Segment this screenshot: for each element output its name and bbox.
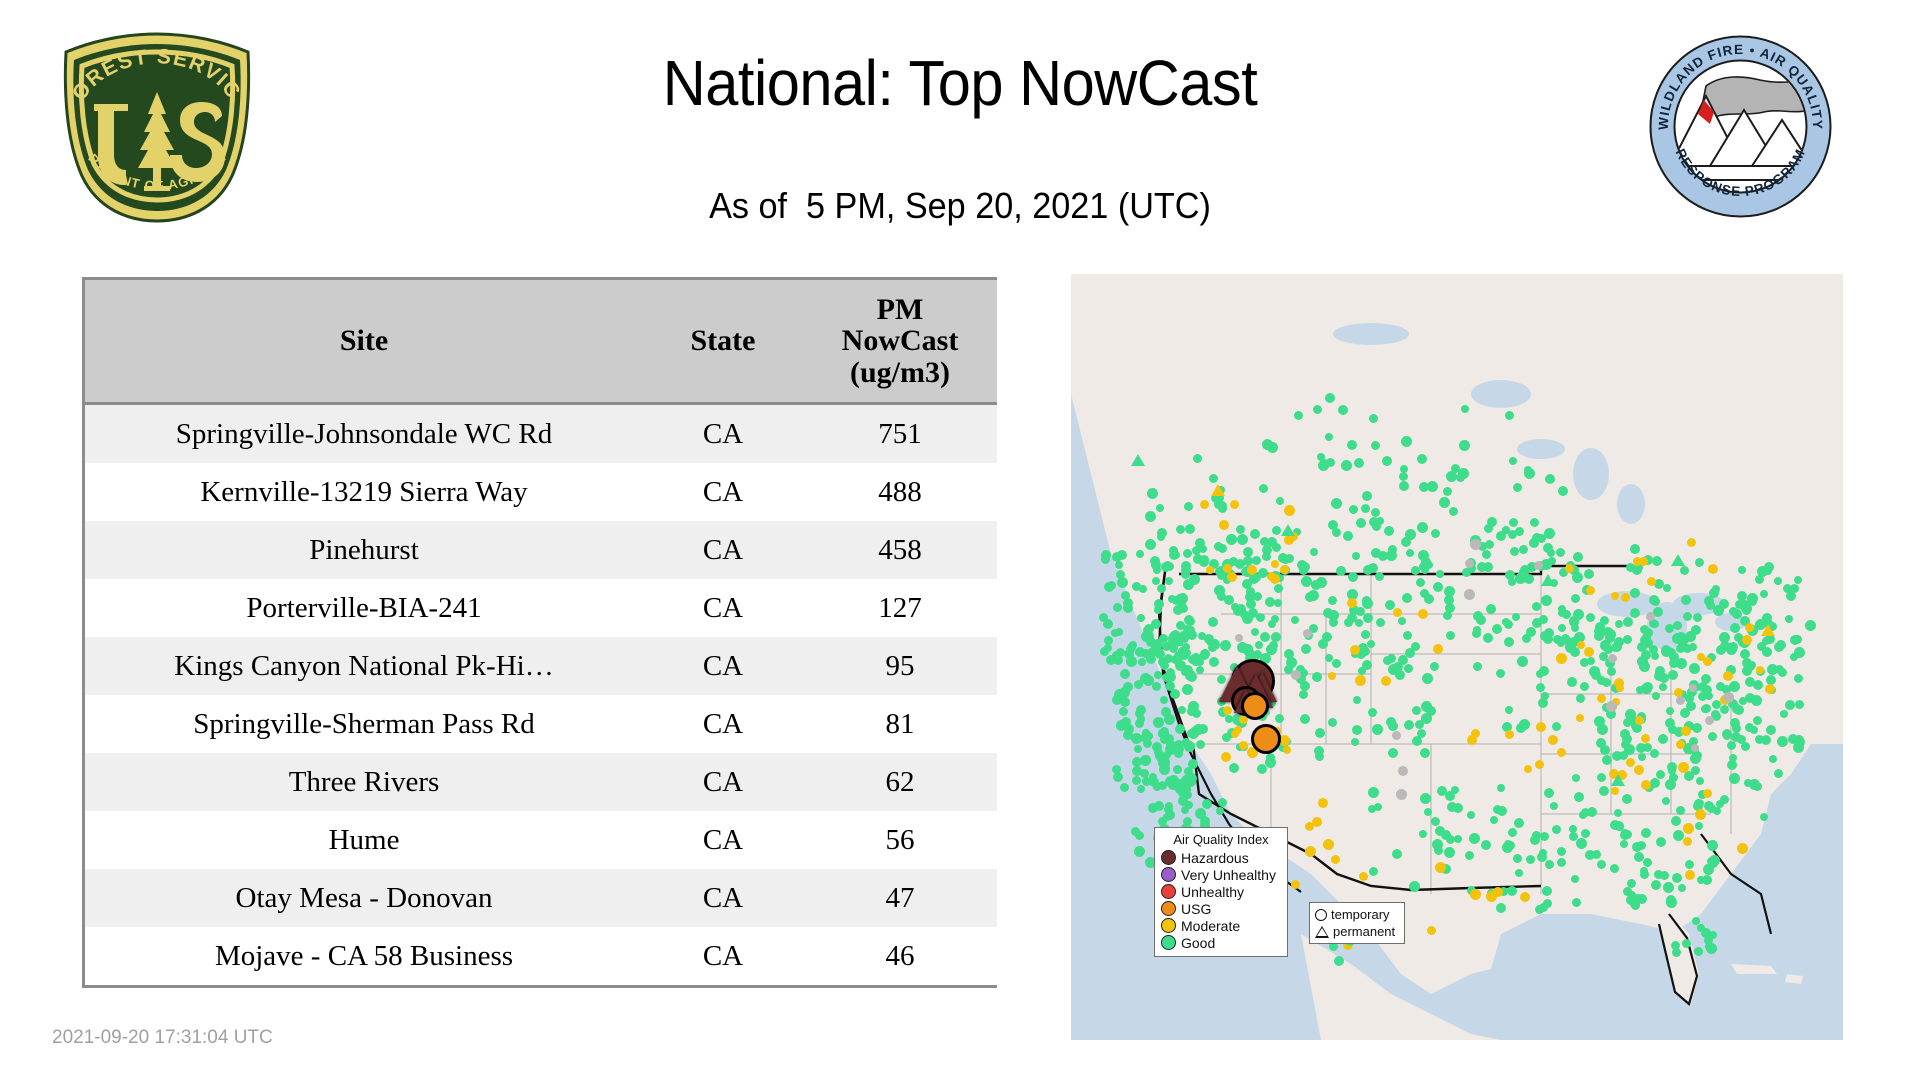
map-monitor-dot	[1708, 564, 1718, 574]
map-monitor-dot	[1492, 624, 1502, 634]
aqi-legend-label: Very Unhealthy	[1181, 868, 1276, 882]
map-monitor-dot	[1469, 833, 1480, 844]
map-monitor-dot	[1586, 613, 1595, 622]
map-monitor-dot	[1361, 504, 1370, 513]
map-monitor-dot	[1444, 847, 1455, 858]
map-monitor-dot	[1132, 757, 1142, 767]
map-monitor-dot	[1312, 672, 1322, 682]
map-monitor-dot	[1680, 708, 1690, 718]
map-monitor-dot	[1209, 657, 1219, 667]
map-monitor-dot	[1300, 714, 1310, 724]
map-monitor-dot	[1774, 642, 1784, 652]
map-monitor-dot	[1193, 454, 1202, 463]
map-monitor-dot	[1283, 746, 1291, 754]
map-monitor-dot	[1641, 828, 1651, 838]
map-monitor-dot	[1405, 529, 1416, 540]
map-monitor-dot	[1729, 773, 1740, 784]
cell-value: 62	[803, 753, 997, 811]
map-monitor-dot	[1673, 830, 1684, 841]
map-monitor-dot	[1586, 586, 1595, 595]
map-monitor-dot	[1538, 698, 1548, 708]
cell-state: CA	[643, 463, 803, 521]
map-monitor-dot	[1351, 738, 1359, 746]
map-monitor-dot	[1371, 548, 1381, 558]
map-monitor-dot	[1666, 897, 1677, 908]
map-monitor-dot	[1485, 540, 1494, 549]
map-monitor-dot	[1663, 882, 1674, 893]
map-monitor-dot	[1766, 725, 1776, 735]
map-monitor-dot	[1762, 647, 1772, 657]
table-row[interactable]: Mojave - CA 58 BusinessCA46	[85, 927, 997, 985]
cell-state: CA	[643, 579, 803, 637]
cell-state: CA	[643, 695, 803, 753]
map-monitor-dot	[1134, 745, 1142, 753]
map-monitor-dot	[1652, 692, 1660, 700]
map-monitor-dot	[1666, 707, 1674, 715]
map-monitor-dot	[1716, 800, 1724, 808]
map-monitor-dot	[1369, 867, 1378, 876]
map-monitor-dot	[1235, 634, 1243, 642]
map-monitor-dot	[1336, 566, 1346, 576]
map-monitor-dot	[1305, 592, 1315, 602]
map-monitor-dot	[1571, 594, 1580, 603]
map-monitor-dot	[1606, 701, 1617, 712]
map-monitor-dot	[1267, 572, 1276, 581]
map-monitor-dot	[1693, 613, 1702, 622]
table-row[interactable]: Springville-Johnsondale WC RdCA751	[85, 404, 997, 464]
map-monitor-dot	[1484, 524, 1493, 533]
map-monitor-dot	[1805, 620, 1816, 631]
map-monitor-dot	[1655, 666, 1665, 676]
map-monitor-dot	[1737, 843, 1748, 854]
map-monitor-dot	[1676, 740, 1685, 749]
map-monitor-dot	[1465, 559, 1474, 568]
map-monitor-dot	[1398, 617, 1406, 625]
map-monitor-dot	[1660, 871, 1669, 880]
map-monitor-dot	[1135, 647, 1145, 657]
map-monitor-dot	[1137, 785, 1145, 793]
map-monitor-dot	[1323, 608, 1333, 618]
map-monitor-dot	[1508, 828, 1517, 837]
map-monitor-dot	[1565, 638, 1576, 649]
map-monitor-dot	[1325, 433, 1333, 441]
map-monitor-dot	[1165, 577, 1173, 585]
table-row[interactable]: Kernville-13219 Sierra WayCA488	[85, 463, 997, 521]
map-monitor-dot	[1421, 713, 1432, 724]
map-monitor-dot	[1630, 899, 1640, 909]
map-monitor-dot	[1674, 688, 1683, 697]
map-monitor-dot	[1496, 903, 1506, 913]
map-monitor-dot	[1140, 769, 1149, 778]
cell-state: CA	[643, 811, 803, 869]
cell-value: 95	[803, 637, 997, 695]
cell-site: Mojave - CA 58 Business	[85, 927, 643, 985]
map-monitor-dot	[1173, 765, 1182, 774]
map-monitor-dot	[1416, 578, 1425, 587]
map-monitor-dot	[1672, 873, 1682, 883]
circle-outline-icon	[1315, 909, 1327, 921]
aqi-legend-title: Air Quality Index	[1161, 832, 1281, 847]
map-monitor-dot	[1419, 830, 1427, 838]
aqi-legend-row: Hazardous	[1161, 849, 1281, 866]
top-nowcast-table: Site State PM NowCast (ug/m3) Springvill…	[85, 280, 997, 985]
map-permanent-monitor-triangle	[1281, 524, 1295, 536]
map-monitor-dot	[1328, 718, 1337, 727]
map-monitor-dot	[1695, 809, 1706, 820]
map-monitor-dot	[1530, 518, 1539, 527]
map-monitor-dot	[1665, 779, 1676, 790]
map-monitor-dot	[1152, 742, 1162, 752]
map-monitor-dot	[1262, 545, 1272, 555]
map-monitor-dot	[1189, 574, 1200, 585]
map-monitor-dot	[1695, 822, 1703, 830]
map-monitor-dot	[1524, 765, 1532, 773]
map-monitor-dot	[1793, 635, 1802, 644]
map-monitor-dot	[1259, 484, 1268, 493]
map-monitor-dot	[1220, 640, 1231, 651]
map-monitor-dot	[1253, 592, 1262, 601]
map-monitor-dot	[1417, 454, 1427, 464]
map-monitor-dot	[1152, 682, 1161, 691]
map-monitor-dot	[1557, 847, 1566, 856]
map-monitor-dot	[1226, 534, 1237, 545]
map-monitor-dot	[1526, 855, 1535, 864]
map-monitor-dot	[1135, 831, 1144, 840]
map-monitor-dot	[1597, 773, 1606, 782]
map-monitor-dot	[1510, 547, 1519, 556]
column-header-pm-nowcast[interactable]: PM NowCast (ug/m3)	[803, 280, 997, 404]
map-monitor-dot	[1268, 620, 1276, 628]
map-monitor-dot	[1355, 675, 1366, 686]
map-monitor-dot	[1186, 777, 1196, 787]
cell-value: 458	[803, 521, 997, 579]
map-monitor-dot	[1482, 550, 1491, 559]
map-monitor-dot	[1702, 875, 1712, 885]
map-monitor-dot	[1704, 596, 1714, 606]
map-monitor-dot	[1505, 411, 1514, 420]
aqi-legend-rows: HazardousVery UnhealthyUnhealthyUSGModer…	[1161, 849, 1281, 951]
map-monitor-dot	[1681, 595, 1691, 605]
map-monitor-dot	[1328, 672, 1336, 680]
map-monitor-dot	[1742, 606, 1751, 615]
map-monitor-dot	[1557, 748, 1566, 757]
map-monitor-dot	[1318, 798, 1328, 808]
map-monitor-dot	[1384, 526, 1394, 536]
map-monitor-dot	[1748, 597, 1757, 606]
generated-timestamp: 2021-09-20 17:31:04 UTC	[52, 1027, 273, 1049]
map-monitor-dot	[1145, 732, 1153, 740]
map-monitor-dot	[1209, 639, 1220, 650]
map-monitor-dot	[1558, 486, 1568, 496]
map-monitor-dot	[1121, 591, 1130, 600]
cell-value: 56	[803, 811, 997, 869]
map-monitor-dot	[1627, 879, 1636, 888]
map-monitor-dot	[1247, 565, 1257, 575]
map-monitor-dot	[1352, 552, 1360, 560]
map-monitor-dot	[1338, 405, 1348, 415]
map-monitor-dot	[1541, 595, 1552, 606]
map-monitor-dot	[1154, 671, 1162, 679]
map-monitor-dot	[1237, 534, 1248, 545]
national-air-quality-monitor-map[interactable]: Air Quality Index HazardousVery Unhealth…	[1071, 274, 1843, 1040]
map-monitor-dot	[1252, 556, 1261, 565]
map-monitor-dot	[1544, 628, 1554, 638]
cell-site: Hume	[85, 811, 643, 869]
table-body: Springville-Johnsondale WC RdCA751Kernvi…	[85, 404, 997, 986]
column-header-pm-line1: PM	[803, 294, 997, 326]
triangle-outline-icon	[1315, 926, 1329, 938]
map-monitor-dot	[1381, 676, 1391, 686]
map-monitor-dot	[1331, 855, 1340, 864]
map-monitor-dot	[1392, 731, 1401, 740]
map-monitor-dot	[1349, 505, 1358, 514]
map-monitor-dot	[1209, 474, 1218, 483]
map-monitor-dot	[1473, 611, 1483, 621]
map-monitor-dot	[1641, 734, 1650, 743]
map-monitor-dot	[1505, 730, 1514, 739]
map-monitor-dot	[1689, 643, 1697, 651]
map-monitor-dot	[1359, 872, 1368, 881]
map-monitor-dot	[1729, 754, 1737, 762]
table-row[interactable]: PinehurstCA458	[85, 521, 997, 579]
map-monitor-dot	[1195, 538, 1205, 548]
map-monitor-dot	[1520, 565, 1530, 575]
map-monitor-dot	[1550, 802, 1558, 810]
map-monitor-dot	[1369, 517, 1379, 527]
aqi-swatch-icon	[1161, 918, 1176, 933]
map-monitor-dot	[1502, 842, 1513, 853]
map-permanent-monitor-triangle	[1761, 624, 1775, 636]
map-monitor-dot	[1291, 616, 1299, 624]
map-monitor-dot	[1622, 734, 1632, 744]
aqi-legend-label: Good	[1181, 936, 1215, 950]
map-monitor-dot	[1750, 726, 1758, 734]
aqi-legend-label: Hazardous	[1181, 851, 1249, 865]
map-monitor-dot	[1143, 626, 1151, 634]
monitor-type-legend: temporary permanent	[1309, 902, 1405, 944]
map-monitor-dot	[1202, 799, 1212, 809]
map-monitor-dot	[1581, 808, 1590, 817]
map-monitor-dot	[1602, 755, 1612, 765]
map-monitor-dot	[1313, 405, 1322, 414]
map-monitor-dot	[1152, 577, 1160, 585]
map-monitor-dot	[1646, 612, 1655, 621]
map-monitor-dot	[1174, 744, 1184, 754]
table-row[interactable]: Porterville-BIA-241CA127	[85, 579, 997, 637]
map-monitor-dot	[1553, 635, 1562, 644]
map-monitor-dot	[1608, 654, 1617, 663]
map-monitor-dot	[1176, 525, 1185, 534]
map-monitor-dot	[1223, 706, 1232, 715]
column-header-state-label: State	[691, 324, 756, 357]
map-monitor-dot	[1310, 548, 1318, 556]
map-monitor-dot	[1150, 556, 1160, 566]
map-monitor-dot	[1161, 707, 1171, 717]
map-monitor-dot	[1612, 642, 1622, 652]
map-monitor-dot	[1513, 483, 1522, 492]
map-monitor-dot	[1343, 531, 1353, 541]
map-highlight-temporary-marker	[1251, 724, 1281, 754]
map-monitor-dot	[1192, 709, 1201, 718]
map-monitor-dot	[1612, 751, 1622, 761]
map-monitor-dot	[1175, 660, 1186, 671]
map-monitor-dot	[1515, 527, 1524, 536]
aqi-legend-label: USG	[1181, 902, 1211, 916]
map-monitor-dot	[1473, 662, 1482, 671]
map-monitor-dot	[1671, 816, 1681, 826]
legend-row-permanent: permanent	[1315, 923, 1399, 940]
map-monitor-dot	[1777, 736, 1788, 747]
map-monitor-dot	[1535, 905, 1544, 914]
cell-state: CA	[643, 927, 803, 985]
map-monitor-dot	[1705, 716, 1714, 725]
map-monitor-dot	[1193, 554, 1203, 564]
cell-value: 751	[803, 404, 997, 464]
map-monitor-dot	[1433, 644, 1443, 654]
map-monitor-dot	[1745, 693, 1755, 703]
aqi-legend-row: Moderate	[1161, 917, 1281, 934]
map-monitor-dot	[1611, 787, 1619, 795]
aqi-legend-label: Unhealthy	[1181, 885, 1244, 899]
map-monitor-dot	[1481, 840, 1491, 850]
map-monitor-dot	[1556, 548, 1565, 557]
map-monitor-dot	[1597, 676, 1606, 685]
map-monitor-dot	[1486, 604, 1496, 614]
cell-value: 488	[803, 463, 997, 521]
aqi-swatch-icon	[1161, 935, 1176, 950]
map-monitor-dot	[1497, 806, 1507, 816]
map-monitor-dot	[1534, 561, 1543, 570]
map-monitor-dot	[1651, 620, 1659, 628]
map-monitor-dot	[1362, 491, 1372, 501]
map-monitor-dot	[1186, 617, 1195, 626]
map-monitor-dot	[1723, 692, 1734, 703]
map-monitor-dot	[1262, 439, 1273, 450]
map-monitor-dot	[1404, 664, 1413, 673]
map-monitor-dot	[1543, 543, 1553, 553]
map-monitor-dot	[1161, 562, 1171, 572]
map-monitor-dot	[1681, 726, 1691, 736]
cell-value: 46	[803, 927, 997, 985]
map-monitor-dot	[1790, 584, 1799, 593]
map-monitor-dot	[1137, 715, 1145, 723]
cell-site: Otay Mesa - Donovan	[85, 869, 643, 927]
aqi-legend: Air Quality Index HazardousVery Unhealth…	[1154, 827, 1288, 957]
map-monitor-dot	[1431, 817, 1440, 826]
map-monitor-dot	[1634, 852, 1644, 862]
map-monitor-dot	[1795, 737, 1805, 747]
map-monitor-dot	[1630, 608, 1640, 618]
map-monitor-dot	[1502, 526, 1510, 534]
map-monitor-dot	[1165, 776, 1176, 787]
map-monitor-dot	[1113, 603, 1122, 612]
map-monitor-dot	[1170, 689, 1180, 699]
map-monitor-dot	[1393, 608, 1402, 617]
map-monitor-dot	[1266, 644, 1277, 655]
aqi-swatch-icon	[1161, 901, 1176, 916]
map-monitor-dot	[1585, 850, 1595, 860]
table-row[interactable]: Kings Canyon National Pk-Hi…CA95	[85, 637, 997, 695]
map-monitor-dot	[1665, 624, 1674, 633]
map-monitor-dot	[1179, 604, 1188, 613]
column-header-state[interactable]: State	[643, 280, 803, 404]
map-monitor-dot	[1623, 635, 1632, 644]
map-monitor-dot	[1369, 414, 1378, 423]
cell-site: Kings Canyon National Pk-Hi…	[85, 637, 643, 695]
map-monitor-dot	[1318, 639, 1328, 649]
map-monitor-dot	[1656, 837, 1666, 847]
map-monitor-dot	[1430, 662, 1439, 671]
map-monitor-dot	[1505, 706, 1513, 714]
map-monitor-dot	[1691, 744, 1699, 752]
map-monitor-dot	[1683, 612, 1692, 621]
map-monitor-dot	[1301, 644, 1311, 654]
map-monitor-dot	[1755, 575, 1764, 584]
map-monitor-dot	[1558, 624, 1566, 632]
map-monitor-dot	[1682, 939, 1691, 948]
table-row[interactable]: Three RiversCA62	[85, 753, 997, 811]
map-monitor-dot	[1532, 602, 1541, 611]
map-monitor-dot	[1278, 553, 1288, 563]
map-monitor-dot	[1236, 525, 1245, 534]
map-monitor-dot	[1120, 669, 1130, 679]
table-row[interactable]: Springville-Sherman Pass RdCA81	[85, 695, 997, 753]
map-monitor-dot	[1730, 623, 1740, 633]
page-title: National: Top NowCast	[67, 48, 1853, 118]
map-highlight-temporary-marker	[1241, 692, 1269, 720]
map-monitor-dot	[1344, 618, 1353, 627]
map-monitor-dot	[1180, 651, 1189, 660]
map-monitor-dot	[1727, 741, 1736, 750]
map-monitor-dot	[1548, 557, 1556, 565]
map-monitor-dot	[1472, 629, 1481, 638]
map-monitor-dot	[1515, 869, 1523, 877]
map-monitor-dot	[1260, 537, 1269, 546]
map-monitor-dot	[1447, 802, 1457, 812]
map-monitor-dot	[1132, 776, 1141, 785]
legend-label-permanent: permanent	[1333, 924, 1395, 939]
map-monitor-dot	[1353, 696, 1361, 704]
map-monitor-dot	[1507, 886, 1517, 896]
map-monitor-dot	[1187, 672, 1197, 682]
map-monitor-dot	[1435, 862, 1446, 873]
map-monitor-dot	[1795, 700, 1804, 709]
map-monitor-dot	[1572, 572, 1583, 583]
map-monitor-dot	[1753, 716, 1762, 725]
map-monitor-dot	[1545, 474, 1555, 484]
column-header-site[interactable]: Site	[85, 280, 643, 404]
table-row[interactable]: HumeCA56	[85, 811, 997, 869]
map-permanent-monitor-triangle	[1131, 454, 1145, 466]
map-monitor-dot	[1315, 728, 1325, 738]
map-monitor-dot	[1636, 743, 1646, 753]
aqi-swatch-icon	[1161, 884, 1176, 899]
map-monitor-dot	[1659, 683, 1667, 691]
table-row[interactable]: Otay Mesa - DonovanCA47	[85, 869, 997, 927]
map-monitor-dot	[1756, 666, 1764, 674]
map-monitor-dot	[1315, 752, 1324, 761]
map-permanent-monitor-triangle	[1671, 554, 1685, 566]
legend-row-temporary: temporary	[1315, 906, 1399, 923]
map-monitor-dot	[1318, 460, 1329, 471]
map-monitor-dot	[1404, 720, 1414, 730]
map-monitor-dot	[1157, 584, 1166, 593]
map-monitor-dot	[1539, 615, 1548, 624]
map-monitor-dot	[1611, 592, 1619, 600]
map-monitor-dot	[1683, 823, 1694, 834]
cell-site: Porterville-BIA-241	[85, 579, 643, 637]
cell-state: CA	[643, 521, 803, 579]
